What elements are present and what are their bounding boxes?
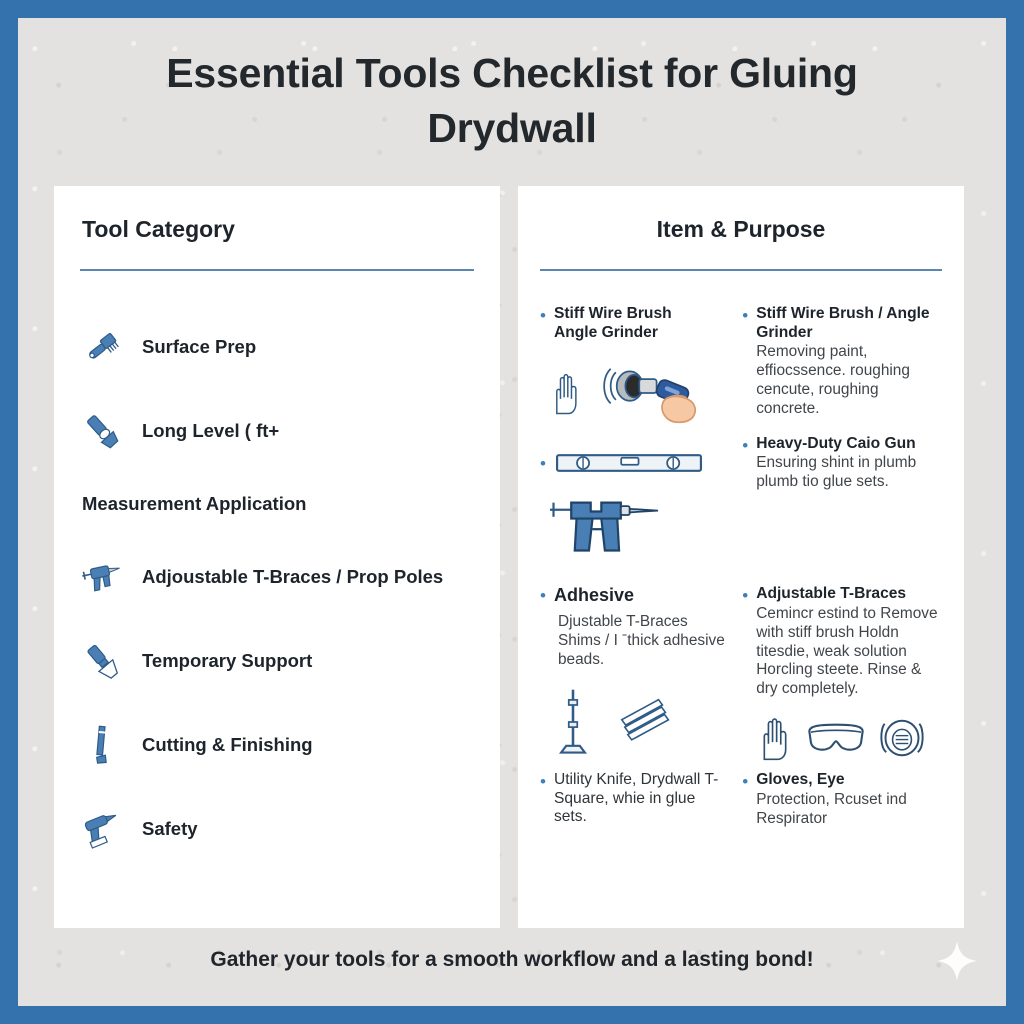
list-item[interactable]: Safety [80,787,474,871]
caulk-gun-large-icon [546,492,662,554]
trowel-icon [80,639,124,683]
bullet-dot-icon: • [742,586,748,699]
detail-block-1-left: • Stiff Wire Brush Angle Grinder [540,305,728,559]
utility-knife-icon [80,723,124,767]
list-item-description: Ensuring shint in plumb plumb tio glue s… [756,454,942,492]
list-item[interactable]: • Gloves, Eye Protection, Rcuset ind Res… [742,771,942,828]
bullet-dot-icon: • [742,772,748,828]
bullet-dot-icon: • [540,454,546,474]
list-item[interactable]: • Stiff Wire Brush / Angle Grinder Remov… [742,305,942,419]
list-section-heading-label: Measurement Application [80,493,306,515]
poster-frame: Essential Tools Checklist for Gluing Dry… [0,0,1024,1024]
detail-block-1: • Stiff Wire Brush Angle Grinder [540,305,942,559]
title-line-1: Stiff Wire Brush [554,305,672,322]
detail-block-3-right: • Gloves, Eye Protection, Rcuset ind Res… [742,771,942,834]
detail-block-2-left: • Adhesive Djustable T-Braces Shims / I … [540,585,728,761]
list-item[interactable]: Long Level ( ft+ [80,389,474,473]
bullet-dot-icon: • [742,306,748,419]
detail-block-3-left: • Utility Knife, Drydwall T-Square, whie… [540,771,728,834]
list-item[interactable]: Adjoustable T-Braces / Prop Poles [80,535,474,619]
right-divider [540,269,942,271]
list-item-label: Gloves, Eye [756,771,844,788]
shims-icon [618,698,674,746]
glove-icon [756,715,794,761]
list-item-label: Long Level ( ft+ [142,420,279,442]
columns-container: Tool Category [54,186,970,928]
safety-goggles-icon [806,721,866,755]
list-item-label: Safety [142,818,198,840]
list-item[interactable]: • Heavy-Duty Caio Gun Ensuring shint in … [742,435,942,492]
list-item-label: Temporary Support [142,650,312,672]
list-item-content: Adjustable T-Braces Cemincr estind to Re… [756,585,942,699]
list-item[interactable]: • Adhesive [540,585,728,607]
caulk-gun-icon [80,555,124,599]
list-item[interactable]: • Utility Knife, Drydwall T-Square, whie… [540,771,728,827]
ppe-illustration [756,715,942,761]
list-item-description: Protection, Rcuset ind Respirator [756,791,942,829]
list-item-label: Stiff Wire Brush / Angle Grinder [756,305,929,341]
spirit-level-icon [554,450,704,476]
caulk-gun-illustration [546,492,728,559]
poster-canvas: Essential Tools Checklist for Gluing Dry… [18,18,1006,1006]
wire-brush-icon [80,325,124,369]
title-line-2: Angle Grinder [554,324,658,341]
glove-icon [548,369,592,417]
sparkle-icon [936,940,978,982]
item-purpose-header: Item & Purpose [540,216,942,243]
list-item-label: Utility Knife, Drydwall T-Square, whie i… [554,771,728,827]
list-item[interactable]: Temporary Support [80,619,474,703]
detail-block-2-right: • Adjustable T-Braces Cemincr estind to … [742,585,942,761]
bullet-dot-icon: • [540,306,546,342]
trowel-icon [80,409,124,453]
respirator-icon [878,716,926,760]
list-item-label: Adjoustable T-Braces / Prop Poles [142,566,443,588]
bullet-dot-icon: • [742,436,748,492]
list-item-label: Stiff Wire Brush Angle Grinder [554,305,672,342]
list-item-content: Gloves, Eye Protection, Rcuset ind Respi… [756,771,942,828]
list-item-label: Adjustable T-Braces [756,585,906,602]
tool-category-header: Tool Category [80,216,474,243]
list-item-label: Surface Prep [142,336,256,358]
left-divider [80,269,474,271]
angle-grinder-icon [602,358,706,428]
list-item-label: Adhesive [554,585,634,607]
list-item-label: Cutting & Finishing [142,734,313,756]
list-item[interactable]: • Adjustable T-Braces Cemincr estind to … [742,585,942,699]
list-item-description: Djustable T-Braces Shims / I ˉthick adhe… [558,613,728,669]
page-title: Essential Tools Checklist for Gluing Dry… [18,46,1006,157]
list-item[interactable]: Surface Prep [80,305,474,389]
detail-block-2: • Adhesive Djustable T-Braces Shims / I … [540,585,942,761]
list-item-description: Removing paint, effiocssence. roughing c… [756,343,942,418]
footer-tagline: Gather your tools for a smooth workflow … [18,948,1006,972]
tool-category-list: Surface Prep Long [80,305,474,871]
detail-block-1-right: • Stiff Wire Brush / Angle Grinder Remov… [742,305,942,559]
glue-gun-icon [80,807,124,851]
list-item-label: Heavy-Duty Caio Gun [756,435,915,452]
tool-category-card: Tool Category [54,186,500,928]
grinder-illustration [548,358,728,428]
list-item-description: Cemincr estind to Remove with stiff brus… [756,605,942,699]
item-purpose-card: Item & Purpose • Stiff Wire Brush Angle … [518,186,964,928]
prop-pole-icon [556,687,590,757]
brace-shims-illustration [556,687,728,757]
list-section-heading: Measurement Application [80,473,474,535]
list-item-content: Stiff Wire Brush / Angle Grinder Removin… [756,305,942,419]
detail-block-3: • Utility Knife, Drydwall T-Square, whie… [540,771,942,834]
bullet-dot-icon: • [540,772,546,827]
level-row[interactable]: • [540,450,728,476]
list-item-content: Heavy-Duty Caio Gun Ensuring shint in pl… [756,435,942,492]
list-item[interactable]: • Stiff Wire Brush Angle Grinder [540,305,728,342]
list-item[interactable]: Cutting & Finishing [80,703,474,787]
bullet-dot-icon: • [540,586,546,607]
